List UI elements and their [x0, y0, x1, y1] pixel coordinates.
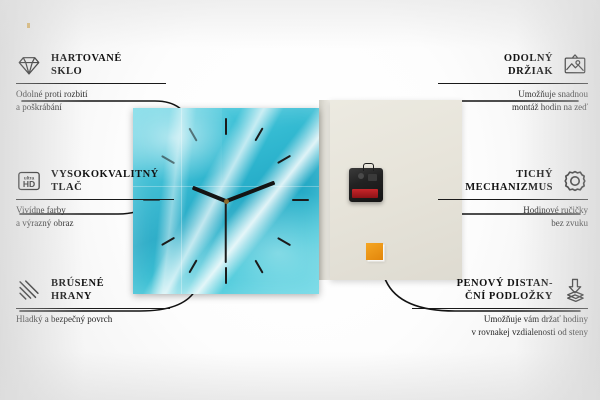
- feature-title: VYSOKOKVALITNÝ TLAČ: [51, 168, 159, 194]
- battery: [352, 189, 378, 198]
- ultra-hd-icon: ultra HD: [16, 168, 42, 194]
- diagonal-lines-icon: [16, 277, 42, 303]
- feature-header: PENOVÝ DISTAN- ČNÍ PODLOŽKY: [412, 277, 588, 303]
- feature-header: ultra HD VYSOKOKVALITNÝ TLAČ: [16, 168, 174, 194]
- divider: [438, 199, 588, 200]
- divider: [412, 308, 588, 309]
- feature-description: Vivídne farby a výrazný obraz: [16, 204, 174, 230]
- feature-header: ODOLNÝ DRŽIAK: [438, 52, 588, 78]
- tick-3: [292, 199, 309, 201]
- second-hand: [225, 201, 227, 263]
- feature-high-quality-print: ultra HD VYSOKOKVALITNÝ TLAČ Vivídne far…: [16, 168, 174, 230]
- divider: [16, 199, 174, 200]
- svg-text:HD: HD: [23, 179, 35, 189]
- tick-6: [225, 267, 227, 284]
- feature-description: Odolné proti rozbití a poškrábání: [16, 88, 166, 114]
- diamond-icon: [16, 52, 42, 78]
- tick-12: [225, 118, 227, 135]
- press-pad-icon: [562, 277, 588, 303]
- feature-header: TICHÝ MECHANIZMUS: [438, 168, 588, 194]
- divider: [16, 308, 170, 309]
- feature-description: Umožňuje vám držať hodiny v rovnakej vzd…: [412, 313, 588, 339]
- battery-terminal: [27, 23, 30, 28]
- feature-durable-hanger: ODOLNÝ DRŽIAK Umožňuje snadnou montáž ho…: [438, 52, 588, 114]
- foam-spacer-pad: [366, 243, 383, 260]
- mechanism-slot: [368, 174, 377, 181]
- feature-title: ODOLNÝ DRŽIAK: [504, 52, 553, 78]
- feature-tempered-glass: HARTOVANÉ SKLO Odolné proti rozbití a po…: [16, 52, 166, 114]
- infographic-canvas: HARTOVANÉ SKLO Odolné proti rozbití a po…: [0, 0, 600, 400]
- divider: [16, 83, 166, 84]
- divider: [438, 83, 588, 84]
- feature-ground-edges: BRÚSENÉ HRANY Hladký a bezpečný povrch: [16, 277, 170, 326]
- mechanism-shaft: [358, 173, 364, 179]
- hanger-hook-icon: [363, 163, 374, 171]
- feature-header: HARTOVANÉ SKLO: [16, 52, 166, 78]
- feature-silent-mechanism: TICHÝ MECHANIZMUS Hodinové ručičky bez z…: [438, 168, 588, 230]
- gear-icon: [562, 168, 588, 194]
- feature-title: HARTOVANÉ SKLO: [51, 52, 122, 78]
- feature-description: Hladký a bezpečný povrch: [16, 313, 170, 326]
- feature-title: TICHÝ MECHANIZMUS: [465, 168, 553, 194]
- picture-frame-icon: [562, 52, 588, 78]
- feature-title: PENOVÝ DISTAN- ČNÍ PODLOŽKY: [457, 277, 553, 303]
- feature-description: Hodinové ručičky bez zvuku: [438, 204, 588, 230]
- feature-header: BRÚSENÉ HRANY: [16, 277, 170, 303]
- feature-title: BRÚSENÉ HRANY: [51, 277, 104, 303]
- feature-foam-spacers: PENOVÝ DISTAN- ČNÍ PODLOŽKY Umožňuje vám…: [412, 277, 588, 339]
- clock-mechanism: [349, 168, 383, 202]
- feature-description: Umožňuje snadnou montáž hodin na zeď: [438, 88, 588, 114]
- hands-center-cap: [224, 199, 229, 204]
